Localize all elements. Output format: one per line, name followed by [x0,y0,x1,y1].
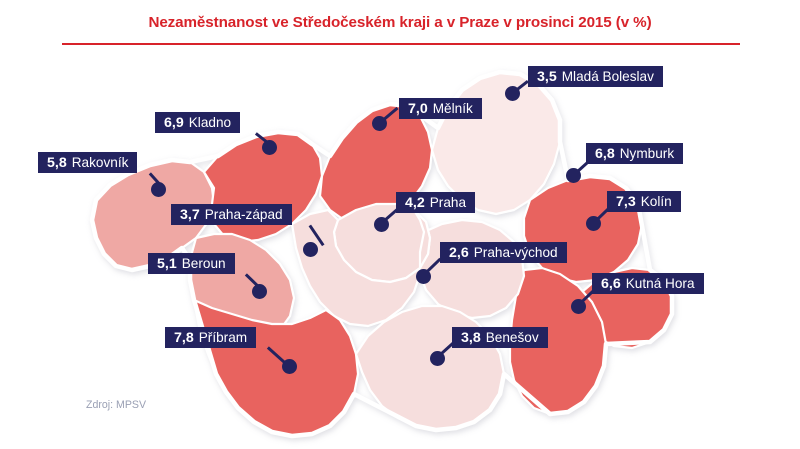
map-dot-praha-zapad[interactable] [303,242,318,257]
callout-name-benesov: Benešov [486,330,539,345]
callout-name-melnik: Mělník [433,101,473,116]
chart-header: Nezaměstnanost ve Středočeském kraji a v… [0,0,800,52]
callout-name-beroun: Beroun [182,256,226,271]
map-dot-beroun[interactable] [252,284,267,299]
callout-box-praha-vychod[interactable]: 2,6Praha-východ [440,242,567,263]
callout-name-pribram: Příbram [199,330,247,345]
callout-name-kladno: Kladno [189,115,231,130]
map-dot-kladno[interactable] [262,140,277,155]
callout-box-beroun[interactable]: 5,1Beroun [148,253,235,274]
callout-value-pribram: 7,8 [174,330,194,346]
callout-name-nymburk: Nymburk [620,146,674,161]
callout-value-benesov: 3,8 [461,330,481,346]
callout-name-rakovnik: Rakovník [72,155,129,170]
callout-box-pribram[interactable]: 7,8Příbram [165,327,256,348]
callout-box-kutna-hora[interactable]: 6,6Kutná Hora [592,273,704,294]
callout-box-benesov[interactable]: 3,8Benešov [452,327,548,348]
callout-value-praha-zapad: 3,7 [180,207,200,223]
callout-value-melnik: 7,0 [408,101,428,117]
callout-box-rakovnik[interactable]: 5,8Rakovník [38,152,137,173]
callout-box-nymburk[interactable]: 6,8Nymburk [586,143,683,164]
callout-layer: 3,5Mladá Boleslav 7,0Mělník 6,9Kladno 5,… [0,52,800,449]
title-divider [62,43,740,45]
callout-name-mlada-boleslav: Mladá Boleslav [562,69,654,84]
choropleth-map: 3,5Mladá Boleslav 7,0Mělník 6,9Kladno 5,… [0,52,800,449]
map-dot-rakovnik[interactable] [151,182,166,197]
map-dot-praha[interactable] [374,217,389,232]
callout-value-kladno: 6,9 [164,115,184,131]
callout-box-mlada-boleslav[interactable]: 3,5Mladá Boleslav [528,66,663,87]
callout-value-rakovnik: 5,8 [47,155,67,171]
callout-box-kolin[interactable]: 7,3Kolín [607,191,681,212]
callout-box-kladno[interactable]: 6,9Kladno [155,112,240,133]
callout-value-praha-vychod: 2,6 [449,245,469,261]
map-dot-nymburk[interactable] [566,168,581,183]
source-note: Zdroj: MPSV [86,399,146,411]
callout-name-praha: Praha [430,195,466,210]
callout-name-kutna-hora: Kutná Hora [626,276,695,291]
callout-box-praha-zapad[interactable]: 3,7Praha-západ [171,204,292,225]
map-dot-kolin[interactable] [586,216,601,231]
callout-value-kolin: 7,3 [616,194,636,210]
map-dot-benesov[interactable] [430,351,445,366]
callout-value-praha: 4,2 [405,195,425,211]
callout-name-praha-zapad: Praha-západ [205,207,283,222]
callout-value-nymburk: 6,8 [595,146,615,162]
page-title: Nezaměstnanost ve Středočeském kraji a v… [0,14,800,31]
callout-box-melnik[interactable]: 7,0Mělník [399,98,482,119]
callout-value-kutna-hora: 6,6 [601,276,621,292]
map-dot-kutna-hora[interactable] [571,299,586,314]
callout-name-praha-vychod: Praha-východ [474,245,558,260]
callout-box-praha[interactable]: 4,2Praha [396,192,475,213]
callout-name-kolin: Kolín [641,194,672,209]
callout-value-mlada-boleslav: 3,5 [537,69,557,85]
map-dot-praha-vychod[interactable] [416,269,431,284]
callout-value-beroun: 5,1 [157,256,177,272]
map-dot-melnik[interactable] [372,116,387,131]
map-dot-mlada-boleslav[interactable] [505,86,520,101]
map-dot-pribram[interactable] [282,359,297,374]
